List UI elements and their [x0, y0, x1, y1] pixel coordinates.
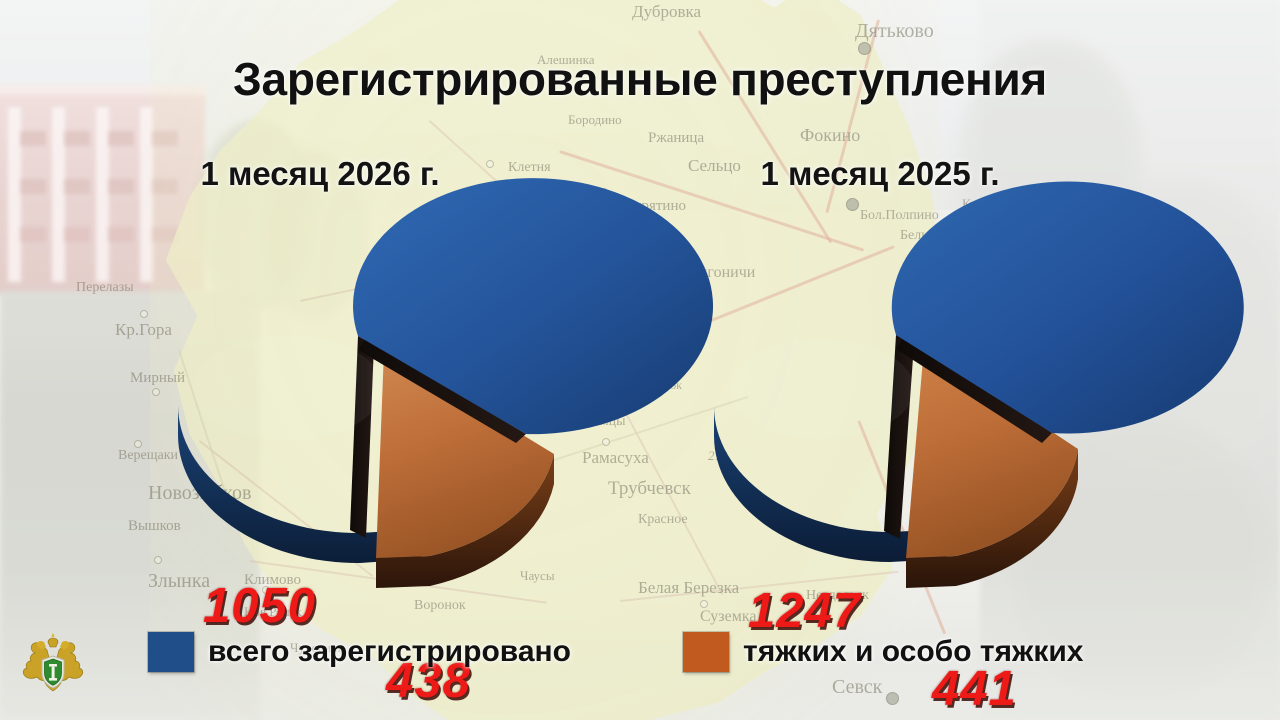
map-town-dot: [152, 388, 160, 396]
map-town-dot: [154, 556, 162, 564]
map-town-dot: [140, 310, 148, 318]
pie-chart-2025: 1247 441: [700, 243, 1100, 593]
pie-2026-blue-value: 1050: [203, 578, 316, 634]
pie-chart-2026: 1050 438: [168, 238, 568, 588]
map-city-dot: [846, 198, 859, 211]
map-label: Перелазы: [76, 280, 134, 296]
legend-item-total[interactable]: всего зарегистрировано: [148, 630, 571, 674]
map-label: Дятьково: [855, 20, 934, 43]
map-label: Воронок: [414, 598, 466, 614]
map-town-dot: [602, 438, 610, 446]
legend-swatch-grave: [683, 632, 729, 672]
map-town-dot: [134, 440, 142, 448]
pie-2025-highlight: [730, 339, 914, 439]
map-label: Фокино: [800, 125, 860, 146]
pie-2026-highlight: [193, 336, 383, 440]
map-label: Ржаница: [648, 130, 704, 147]
pie-2026-svg: [168, 238, 568, 588]
legend-swatch-total: [148, 632, 194, 672]
map-label: Дубровка: [632, 2, 701, 22]
legend-label-total: всего зарегистрировано: [208, 635, 571, 669]
map-city-dot: [886, 692, 899, 705]
map-label: Кр.Гора: [115, 320, 172, 340]
legend-item-grave[interactable]: тяжких и особо тяжких: [683, 630, 1083, 674]
map-label: Трубчевск: [608, 478, 691, 500]
slide-canvas: Дубровка Дятьково Алешинка Бородино Ржан…: [0, 0, 1280, 720]
legend-label-grave: тяжких и особо тяжких: [743, 635, 1083, 669]
map-label: Севск: [832, 676, 882, 699]
map-town-dot: [700, 600, 708, 608]
map-label: Бородино: [568, 112, 622, 128]
prosecutor-general-emblem-icon: [14, 628, 92, 702]
map-label: Бол.Полпино: [860, 208, 939, 224]
map-label: Красное: [638, 512, 688, 528]
page-title: Зарегистрированные преступления: [0, 52, 1280, 106]
pie-2025-svg: [700, 243, 1100, 593]
map-label: Рамасуха: [582, 448, 649, 468]
